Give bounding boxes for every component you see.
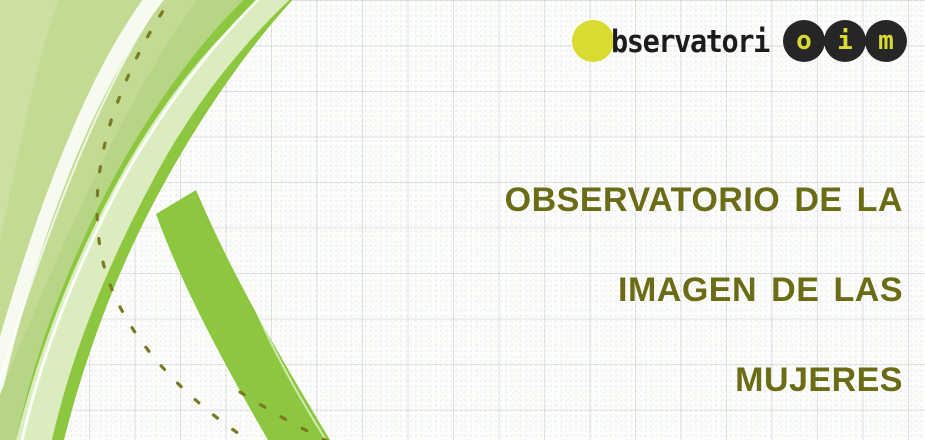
observatorio-logo[interactable]: bservatori o i m xyxy=(572,18,907,64)
logo-badge-i: i xyxy=(824,20,866,62)
page-title: Observatorio de la Imagen de las Mujeres xyxy=(505,150,903,420)
page-title-line-3: Mujeres xyxy=(505,330,903,420)
logo-badge-o: o xyxy=(783,20,825,62)
logo-badge-m: m xyxy=(865,20,907,62)
page-title-line-2: Imagen de las xyxy=(505,240,903,330)
yellow-circle-o-icon xyxy=(572,20,614,62)
page-title-line-1: Observatorio de la xyxy=(505,150,903,240)
logo-wordmark: bservatori xyxy=(611,27,769,58)
logo-badge-group: o i m xyxy=(784,20,907,62)
banner-root: bservatori o i m Observatorio de la Imag… xyxy=(0,0,925,440)
